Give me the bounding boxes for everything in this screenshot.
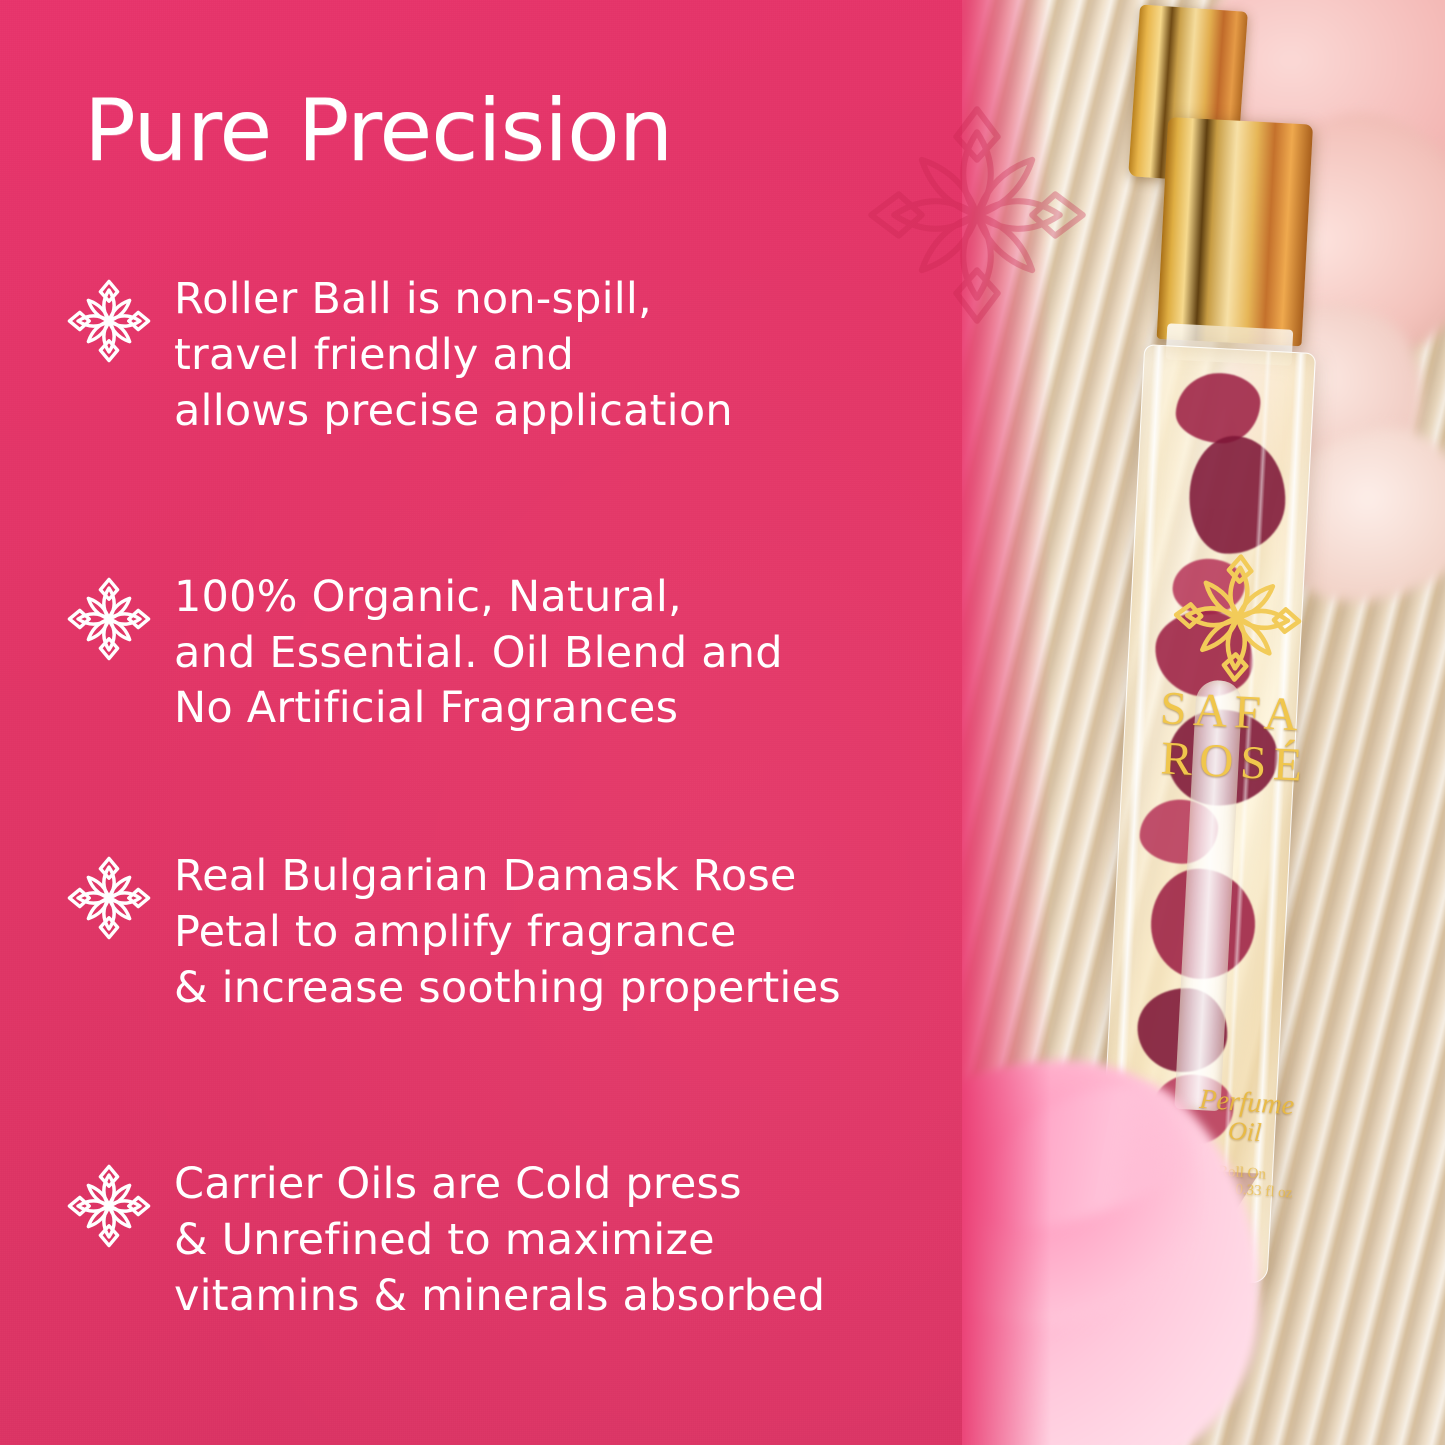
- list-item-text: 100% Organic, Natural, and Essential. Oi…: [152, 570, 783, 738]
- content-panel: Pure Precision: [0, 0, 962, 1445]
- gold-cap: [1157, 117, 1313, 346]
- mandala-flower-icon: [66, 855, 152, 941]
- mandala-flower-icon: [66, 278, 152, 364]
- list-item: Real Bulgarian Damask Rose Petal to ampl…: [66, 849, 946, 1017]
- spacer: [66, 440, 946, 570]
- list-item-text: Roller Ball is non-spill, travel friendl…: [152, 272, 733, 440]
- list-item-text: Carrier Oils are Cold press & Unrefined …: [152, 1157, 825, 1325]
- spacer: [66, 1017, 946, 1157]
- feature-list: Roller Ball is non-spill, travel friendl…: [66, 272, 946, 1325]
- page-title: Pure Precision: [84, 88, 672, 174]
- mandala-flower-icon: [66, 576, 152, 662]
- spacer: [66, 737, 946, 849]
- product-photo: SAFA ROSÉ Perfume Oil Roll On 10 ml / 0.…: [959, 0, 1445, 1445]
- list-item: Roller Ball is non-spill, travel friendl…: [66, 272, 946, 440]
- list-item: Carrier Oils are Cold press & Unrefined …: [66, 1157, 946, 1325]
- list-item-text: Real Bulgarian Damask Rose Petal to ampl…: [152, 849, 841, 1017]
- product-feature-graphic: SAFA ROSÉ Perfume Oil Roll On 10 ml / 0.…: [0, 0, 1445, 1445]
- list-item: 100% Organic, Natural, and Essential. Oi…: [66, 570, 946, 738]
- mandala-flower-icon: [66, 1163, 152, 1249]
